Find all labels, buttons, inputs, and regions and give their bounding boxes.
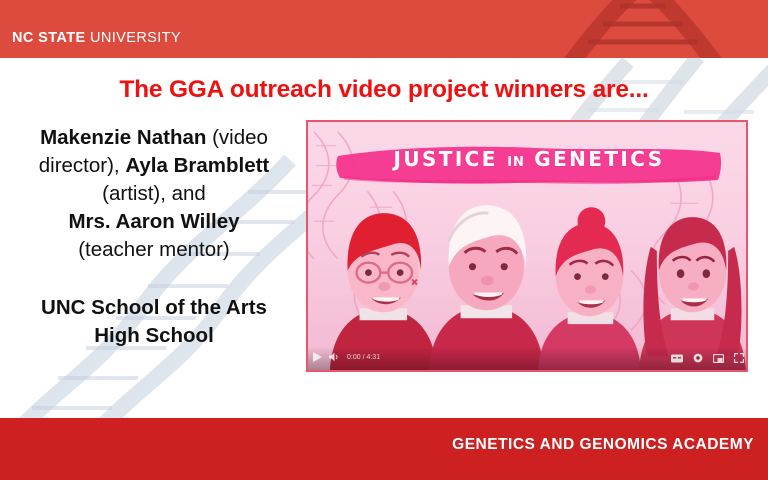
overlay-word-in: IN: [507, 155, 525, 170]
brand-light: UNIVERSITY: [90, 30, 181, 46]
dna-helix-icon: [558, 0, 728, 58]
player-left-controls: 0:00 / 4:31: [313, 352, 380, 362]
winner-name-2: Ayla Bramblett: [125, 154, 269, 177]
brand-bold: NC STATE: [12, 30, 86, 46]
fullscreen-icon[interactable]: [734, 353, 744, 363]
winner-name-3: Mrs. Aaron Willey: [68, 210, 239, 233]
video-timestamp: 0:00 / 4:31: [347, 354, 380, 361]
settings-gear-icon[interactable]: [693, 353, 703, 363]
winner-role-1: (video: [206, 126, 268, 149]
footer-label: GENETICS AND GENOMICS ACADEMY: [452, 436, 754, 454]
player-right-controls: [671, 353, 744, 363]
school-line-1: UNC School of the Arts: [41, 296, 267, 319]
winner-name-1: Makenzie Nathan: [40, 126, 206, 149]
overlay-word-justice: JUSTICE: [394, 147, 498, 171]
video-overlay-title: JUSTICE IN GENETICS: [308, 147, 748, 171]
winner-role-3: (teacher mentor): [78, 238, 230, 261]
volume-icon[interactable]: [329, 352, 340, 362]
embedded-video-player[interactable]: JUSTICE IN GENETICS 0:00 / 4:31: [306, 120, 748, 372]
credits-text: Makenzie Nathan (video director), Ayla B…: [6, 124, 302, 264]
nc-state-wordmark: NC STATE UNIVERSITY: [12, 30, 181, 46]
footer-bar: GENETICS AND GENOMICS ACADEMY: [0, 418, 768, 480]
school-line-2: High School: [94, 324, 214, 347]
nc-state-header-bar: NC STATE UNIVERSITY: [0, 0, 768, 58]
winner-role-2: (artist), and: [102, 182, 206, 205]
video-control-bar[interactable]: 0:00 / 4:31: [308, 348, 748, 370]
slide-title: The GGA outreach video project winners a…: [0, 76, 768, 104]
presentation-slide: NC STATE UNIVERSITY The GGA outreach vid…: [0, 0, 768, 480]
closed-captions-icon[interactable]: [671, 354, 683, 363]
play-icon[interactable]: [313, 352, 322, 362]
school-name: UNC School of the Arts High School: [6, 294, 302, 350]
overlay-word-genetics: GENETICS: [534, 147, 664, 171]
winner-details: Makenzie Nathan (video director), Ayla B…: [6, 124, 302, 350]
miniplayer-icon[interactable]: [713, 354, 724, 363]
winner-role-1-cont: director),: [39, 154, 126, 177]
